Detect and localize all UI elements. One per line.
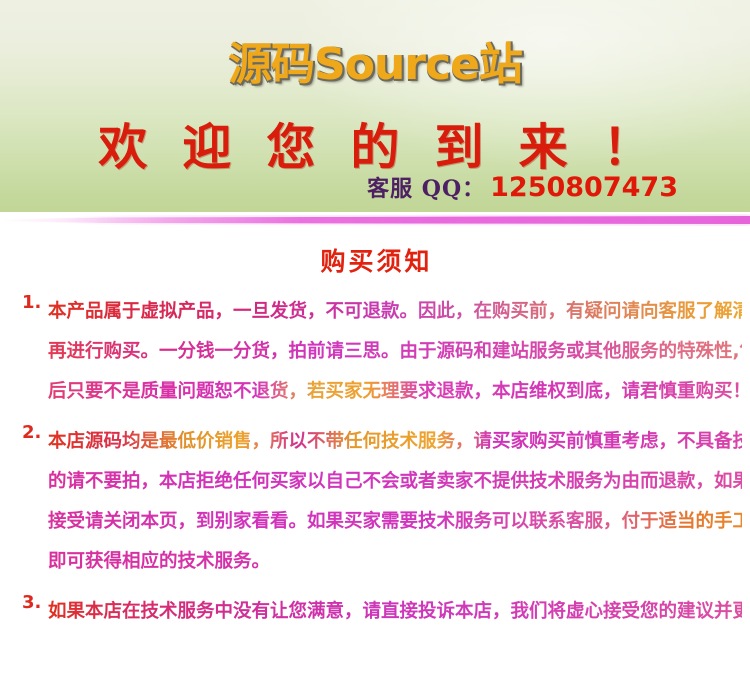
notice-item-3: 3. 如果本店在技术服务中没有让您满意，请直接投诉本店，我们将虚心接受您的建议并…	[8, 592, 742, 632]
notice-line: 本产品属于虚拟产品，一旦发货，不可退款。因此，在购买前，有疑问请向客服了解清楚	[48, 292, 742, 332]
site-title: 源码Source站	[0, 28, 750, 92]
page-root: 源码Source站 欢 迎 您 的 到 来 ！ 客服 QQ：1250807473…	[0, 0, 750, 675]
notice-line: 即可获得相应的技术服务。	[48, 542, 742, 582]
notice-item-2: 2. 本店源码均是最低价销售，所以不带任何技术服务，请买家购买前慎重考虑，不具备…	[8, 422, 742, 582]
notice-line: 后只要不是质量问题恕不退货，若买家无理要求退款，本店维权到底，请君慎重购买！	[48, 372, 742, 412]
notice-item-1-body: 本产品属于虚拟产品，一旦发货，不可退款。因此，在购买前，有疑问请向客服了解清楚 …	[24, 292, 742, 412]
notice-line: 再进行购买。一分钱一分货，拍前请三思。由于源码和建站服务或其他服务的特殊性,售出	[48, 332, 742, 372]
notice-line: 如果本店在技术服务中没有让您满意，请直接投诉本店，我们将虚心接受您的建议并更正！	[48, 592, 742, 632]
notice-item-1: 1. 本产品属于虚拟产品，一旦发货，不可退款。因此，在购买前，有疑问请向客服了解…	[8, 292, 742, 412]
welcome-message: 欢 迎 您 的 到 来 ！	[0, 108, 750, 179]
customer-service-qq: 客服 QQ：1250807473	[367, 174, 678, 201]
notice-item-2-marker: 2.	[22, 422, 41, 443]
notice-item-3-marker: 3.	[22, 592, 41, 613]
qq-number: 1250807473	[490, 172, 678, 203]
qq-label: 客服 QQ：	[367, 176, 485, 202]
notice-item-3-body: 如果本店在技术服务中没有让您满意，请直接投诉本店，我们将虚心接受您的建议并更正！	[24, 592, 742, 632]
section-divider	[0, 212, 750, 228]
notice-title: 购买须知	[0, 242, 750, 278]
notice-line: 本店源码均是最低价销售，所以不带任何技术服务，请买家购买前慎重考虑，不具备技术	[48, 422, 742, 462]
notice-item-2-body: 本店源码均是最低价销售，所以不带任何技术服务，请买家购买前慎重考虑，不具备技术 …	[24, 422, 742, 582]
notice-line: 的请不要拍，本店拒绝任何买家以自己不会或者卖家不提供技术服务为由而退款，如果不能	[48, 462, 742, 502]
notice-line: 接受请关闭本页，到别家看看。如果买家需要技术服务可以联系客服，付于适当的手工费.	[48, 502, 742, 542]
purchase-notice-section: 购买须知 1. 本产品属于虚拟产品，一旦发货，不可退款。因此，在购买前，有疑问请…	[0, 228, 750, 632]
header-banner: 源码Source站 欢 迎 您 的 到 来 ！ 客服 QQ：1250807473	[0, 0, 750, 212]
notice-item-1-marker: 1.	[22, 292, 41, 313]
